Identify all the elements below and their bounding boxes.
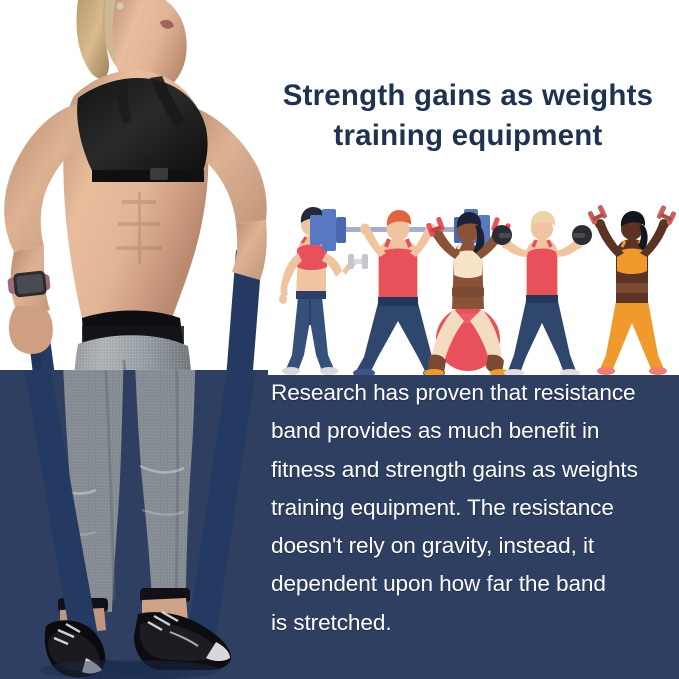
dumbbell-figure-4-right: [572, 225, 592, 245]
body-line: band provides as much benefit in: [271, 412, 671, 450]
body-paragraph: Research has proven that resistance band…: [271, 374, 671, 642]
body-line: fitness and strength gains as weights: [271, 451, 671, 489]
body-line: training equipment. The resistance: [271, 489, 671, 527]
heading-line-1: Strength gains as weights: [262, 76, 674, 116]
body-line: dependent upon how far the band: [271, 565, 671, 603]
body-line: doesn't rely on gravity, instead, it: [271, 527, 671, 565]
dumbbell-figure-4-left: [492, 225, 512, 245]
bra-band: [92, 170, 204, 182]
page-title: Strength gains as weights training equip…: [262, 76, 674, 156]
left-fist: [9, 306, 53, 354]
heading-line-2: training equipment: [262, 116, 674, 156]
body-line: Research has proven that resistance: [271, 374, 671, 412]
product-photo-lower: [0, 370, 268, 679]
earring: [116, 2, 123, 9]
body-line: is stretched.: [271, 604, 671, 642]
exercise-figures-illustration: [268, 205, 679, 375]
promo-image: Strength gains as weights training equip…: [0, 0, 679, 679]
